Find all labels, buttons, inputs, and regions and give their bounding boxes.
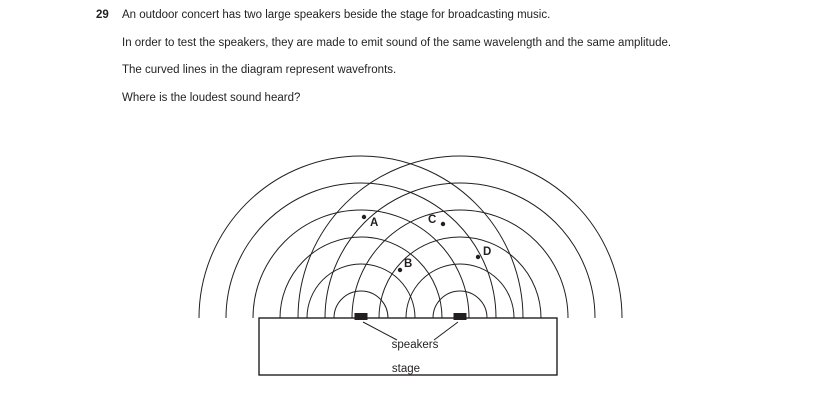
point-label-c: C — [428, 214, 436, 226]
leader-line-left — [363, 322, 397, 340]
wavefront-arc — [334, 291, 388, 345]
speaker-leader-lines — [363, 322, 458, 340]
stage-rectangle — [259, 318, 557, 375]
question-number: 29 — [96, 8, 118, 23]
point-label-d: D — [483, 246, 491, 258]
point-label-a: A — [370, 217, 378, 229]
wavefront-arcs — [199, 156, 622, 404]
wavefront-arc — [253, 210, 469, 404]
point-label-b: B — [404, 258, 412, 270]
stage-caption: stage — [392, 363, 420, 375]
measurement-points: ABCD — [362, 214, 492, 272]
wavefront-arc — [433, 291, 487, 345]
question-stem-text: An outdoor concert has two large speaker… — [122, 8, 746, 24]
wavefront-arc — [325, 183, 595, 404]
question-block: 29 An outdoor concert has two large spea… — [96, 8, 746, 118]
wavefront-arc — [298, 156, 622, 404]
point-dot-c — [441, 222, 445, 226]
point-dot-b — [398, 268, 402, 272]
point-dot-d — [476, 255, 480, 259]
question-line-4: Where is the loudest sound heard? — [122, 91, 742, 107]
question-line-1: 29 An outdoor concert has two large spea… — [96, 8, 746, 24]
wavefront-arc — [280, 237, 442, 399]
speakers-caption: speakers — [392, 339, 439, 351]
wavefront-arc — [199, 156, 523, 404]
leader-line-right — [434, 322, 458, 340]
wavefront-arc — [226, 183, 496, 404]
point-dot-a — [362, 215, 366, 219]
wavefront-arc — [352, 210, 568, 404]
right-speaker — [454, 313, 467, 320]
question-line-2: In order to test the speakers, they are … — [122, 36, 742, 52]
speaker-boxes — [355, 313, 467, 320]
question-line-3: The curved lines in the diagram represen… — [122, 63, 742, 79]
wavefront-arc — [307, 264, 415, 372]
wavefront-arc — [406, 264, 514, 372]
wavefront-arc — [379, 237, 541, 399]
left-speaker — [355, 313, 368, 320]
exam-question-page: 29 An outdoor concert has two large spea… — [0, 0, 815, 404]
